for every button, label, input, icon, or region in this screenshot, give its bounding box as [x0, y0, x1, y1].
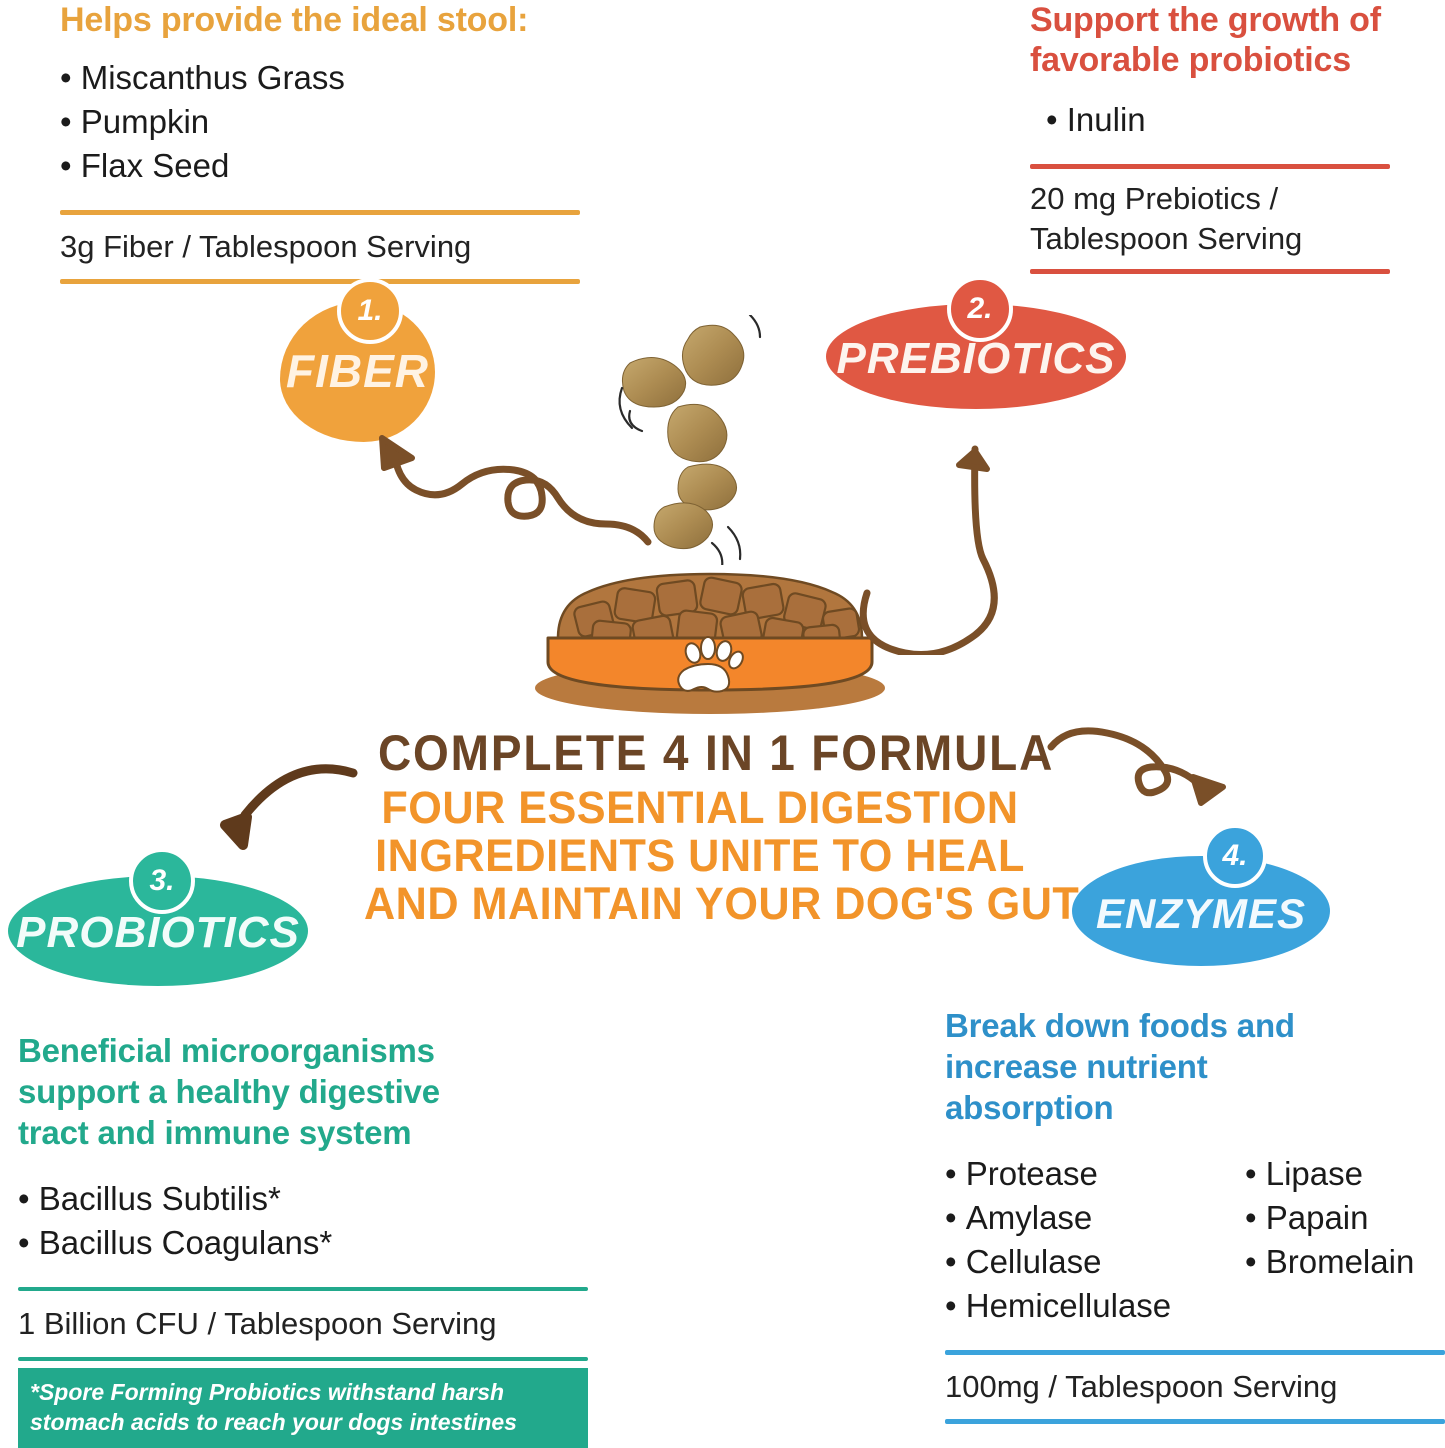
badge-fiber[interactable]: FIBER 1. — [280, 282, 440, 442]
list-item: • Flax Seed — [60, 144, 580, 188]
prebiotics-dose-line2: Tablespoon Serving — [1030, 219, 1390, 259]
prebiotics-dose: 20 mg Prebiotics / Tablespoon Serving — [1030, 169, 1390, 269]
fiber-badge-number: 1. — [337, 278, 403, 344]
formula-subtitle-line2: INGREDIENTS UNITE TO HEAL — [364, 832, 1036, 880]
list-item: • Cellulase — [945, 1240, 1245, 1284]
prebiotics-fact-panel: Support the growth of favorable probioti… — [1030, 0, 1390, 274]
fiber-fact-panel: Helps provide the ideal stool: • Miscant… — [60, 0, 580, 284]
list-item: • Inulin — [1046, 98, 1390, 142]
probiotics-dose: 1 Billion CFU / Tablespoon Serving — [18, 1291, 588, 1357]
enzymes-divider-bottom — [945, 1419, 1445, 1424]
list-item: • Lipase — [1245, 1152, 1445, 1196]
center-headline: COMPLETE 4 IN 1 FORMULA FOUR ESSENTIAL D… — [350, 726, 1050, 928]
fiber-dose: 3g Fiber / Tablespoon Serving — [60, 215, 580, 279]
list-item: • Miscanthus Grass — [60, 56, 580, 100]
kibble-piece — [682, 325, 743, 385]
list-item: • Amylase — [945, 1196, 1245, 1240]
probiotics-heading: Beneficial microorganisms support a heal… — [18, 1030, 588, 1153]
arrow-to-fiber-icon — [355, 430, 655, 610]
prebiotics-heading-line1: Support the growth of — [1030, 0, 1390, 40]
probiotics-badge-number: 3. — [129, 848, 195, 914]
list-item: • Hemicellulase — [945, 1284, 1245, 1328]
formula-subtitle: FOUR ESSENTIAL DIGESTION INGREDIENTS UNI… — [364, 784, 1036, 928]
enzymes-ingredient-list-left: • Protease • Amylase • Cellulase • Hemic… — [945, 1152, 1245, 1328]
probiotics-divider-bottom — [18, 1357, 588, 1361]
fiber-heading: Helps provide the ideal stool: — [60, 0, 580, 40]
probiotics-heading-line1: Beneficial microorganisms — [18, 1030, 588, 1071]
kibble-piece — [654, 503, 713, 549]
enzymes-ingredient-lists: • Protease • Amylase • Cellulase • Hemic… — [945, 1152, 1445, 1328]
probiotics-footnote-line1: *Spore Forming Probiotics withstand hars… — [30, 1377, 576, 1407]
probiotics-badge-label: PROBIOTICS — [8, 908, 308, 958]
prebiotics-divider-bottom — [1030, 269, 1390, 274]
prebiotics-dose-line1: 20 mg Prebiotics / — [1030, 179, 1390, 219]
list-item: • Bacillus Subtilis* — [18, 1177, 588, 1221]
arrow-to-prebiotics-icon — [845, 425, 1055, 655]
kibble-piece — [622, 357, 685, 407]
probiotics-heading-line3: tract and immune system — [18, 1112, 588, 1153]
list-item: • Bromelain — [1245, 1240, 1445, 1284]
formula-subtitle-line1: FOUR ESSENTIAL DIGESTION — [364, 784, 1036, 832]
enzymes-ingredient-list-right: • Lipase • Papain • Bromelain — [1245, 1152, 1445, 1328]
probiotics-footnote-line2: stomach acids to reach your dogs intesti… — [30, 1407, 576, 1437]
enzymes-heading-line1: Break down foods and — [945, 1005, 1445, 1046]
prebiotics-badge-number: 2. — [947, 276, 1013, 342]
enzymes-badge-number: 4. — [1203, 824, 1267, 888]
probiotics-ingredient-list: • Bacillus Subtilis* • Bacillus Coagulan… — [18, 1177, 588, 1265]
probiotics-fact-panel: Beneficial microorganisms support a heal… — [18, 1030, 588, 1448]
formula-title: COMPLETE 4 IN 1 FORMULA — [378, 726, 1022, 780]
list-item: • Pumpkin — [60, 100, 580, 144]
list-item: • Papain — [1245, 1196, 1445, 1240]
prebiotics-heading-line2: favorable probiotics — [1030, 40, 1390, 80]
kibble-piece — [668, 404, 727, 461]
enzymes-dose: 100mg / Tablespoon Serving — [945, 1355, 1445, 1419]
infographic-canvas: Helps provide the ideal stool: • Miscant… — [0, 0, 1445, 1418]
badge-prebiotics[interactable]: PREBIOTICS 2. — [826, 282, 1126, 412]
probiotics-footnote: *Spore Forming Probiotics withstand hars… — [18, 1368, 588, 1448]
enzymes-heading: Break down foods and increase nutrient a… — [945, 1005, 1445, 1128]
fiber-badge-label: FIBER — [280, 344, 435, 398]
enzymes-fact-panel: Break down foods and increase nutrient a… — [945, 1005, 1445, 1424]
prebiotics-heading: Support the growth of favorable probioti… — [1030, 0, 1390, 80]
enzymes-badge-label: ENZYMES — [1072, 890, 1330, 938]
enzymes-heading-line2: increase nutrient — [945, 1046, 1445, 1087]
arrow-to-probiotics-icon — [195, 735, 405, 885]
list-item: • Protease — [945, 1152, 1245, 1196]
fiber-ingredient-list: • Miscanthus Grass • Pumpkin • Flax Seed — [60, 56, 580, 188]
enzymes-heading-line3: absorption — [945, 1087, 1445, 1128]
probiotics-heading-line2: support a healthy digestive — [18, 1071, 588, 1112]
list-item: • Bacillus Coagulans* — [18, 1221, 588, 1265]
prebiotics-ingredient-list: • Inulin — [1030, 98, 1390, 142]
formula-subtitle-line3: AND MAINTAIN YOUR DOG'S GUT — [364, 880, 1036, 928]
